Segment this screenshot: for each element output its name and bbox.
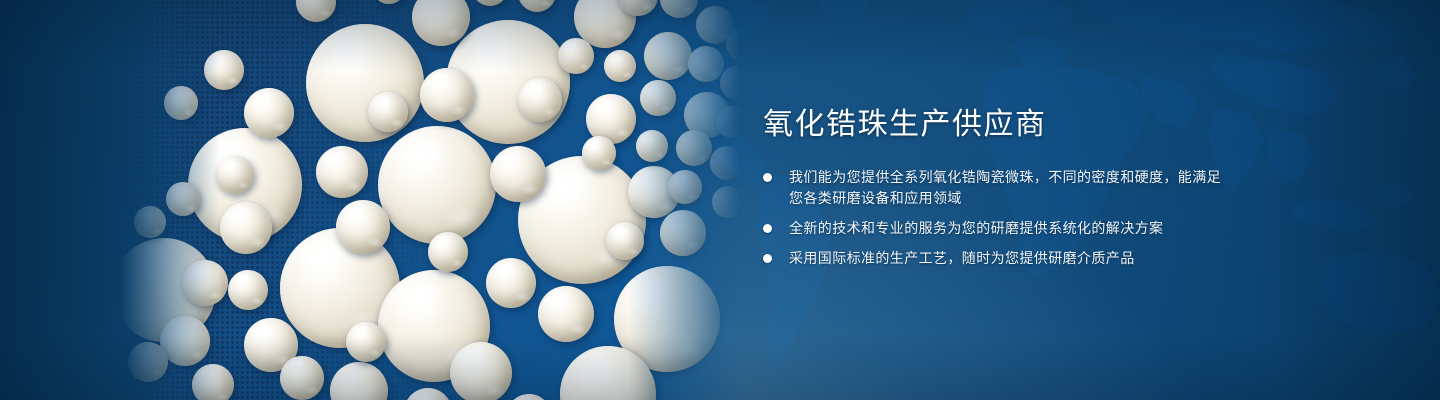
bead: [368, 92, 408, 132]
bead: [166, 182, 200, 216]
bead: [220, 202, 272, 254]
bead: [716, 106, 740, 138]
bead: [660, 0, 698, 18]
hero-banner: 氧化锆珠生产供应商 我们能为您提供全系列氧化锆陶瓷微珠，不同的密度和硬度，能满足…: [0, 0, 1440, 400]
bead: [712, 186, 740, 218]
bead: [450, 342, 512, 400]
bead: [640, 80, 676, 116]
banner-copy: 氧化锆珠生产供应商 我们能为您提供全系列氧化锆陶瓷微珠，不同的密度和硬度，能满足…: [763, 108, 1233, 269]
bead: [558, 38, 594, 74]
bead: [164, 86, 198, 120]
bead: [518, 78, 562, 122]
bead: [668, 170, 702, 204]
bead: [280, 356, 324, 400]
list-item: 采用国际标准的生产工艺，随时为您提供研磨介质产品: [763, 248, 1233, 269]
bead: [710, 146, 740, 180]
bead: [182, 260, 228, 306]
bead: [378, 126, 496, 244]
bead: [306, 24, 424, 142]
list-item: 全新的技术和专业的服务为您的研磨提供系统化的解决方案: [763, 218, 1233, 239]
bead: [134, 206, 166, 238]
bead: [518, 0, 556, 12]
zirconia-beads-photo: [120, 0, 740, 400]
bead: [660, 210, 706, 256]
bead: [676, 130, 712, 166]
feature-bullet-list: 我们能为您提供全系列氧化锆陶瓷微珠，不同的密度和硬度，能满足您各类研磨设备和应用…: [763, 167, 1233, 269]
bead: [372, 0, 406, 4]
bead: [296, 0, 336, 22]
filled-circle-icon: [763, 173, 772, 182]
list-item-label: 采用国际标准的生产工艺，随时为您提供研磨介质产品: [789, 248, 1233, 269]
bead: [486, 258, 536, 308]
page-title: 氧化锆珠生产供应商: [763, 108, 1233, 141]
bead: [404, 388, 452, 400]
list-item-label: 全新的技术和专业的服务为您的研磨提供系统化的解决方案: [789, 218, 1233, 239]
bead: [506, 394, 552, 400]
bead: [128, 342, 168, 382]
bead: [346, 322, 386, 362]
bead: [582, 136, 616, 170]
bead: [636, 130, 668, 162]
bead: [336, 200, 390, 254]
bead: [216, 156, 254, 194]
bead: [472, 0, 508, 6]
filled-circle-icon: [763, 254, 772, 263]
bead: [606, 222, 644, 260]
bead: [316, 146, 368, 198]
bead: [604, 50, 636, 82]
bead: [412, 0, 470, 46]
bead: [490, 146, 546, 202]
bead: [720, 66, 740, 100]
bead: [244, 88, 294, 138]
bead: [204, 50, 244, 90]
bead: [688, 46, 724, 82]
list-item-label: 我们能为您提供全系列氧化锆陶瓷微珠，不同的密度和硬度，能满足您各类研磨设备和应用…: [789, 167, 1233, 209]
bead: [644, 32, 692, 80]
bead: [330, 362, 388, 400]
bead: [538, 286, 594, 342]
bead: [420, 68, 474, 122]
bead: [428, 232, 468, 272]
filled-circle-icon: [763, 224, 772, 233]
bead-cluster: [120, 0, 740, 400]
bead: [192, 364, 234, 400]
list-item: 我们能为您提供全系列氧化锆陶瓷微珠，不同的密度和硬度，能满足您各类研磨设备和应用…: [763, 167, 1233, 209]
bead: [228, 270, 268, 310]
